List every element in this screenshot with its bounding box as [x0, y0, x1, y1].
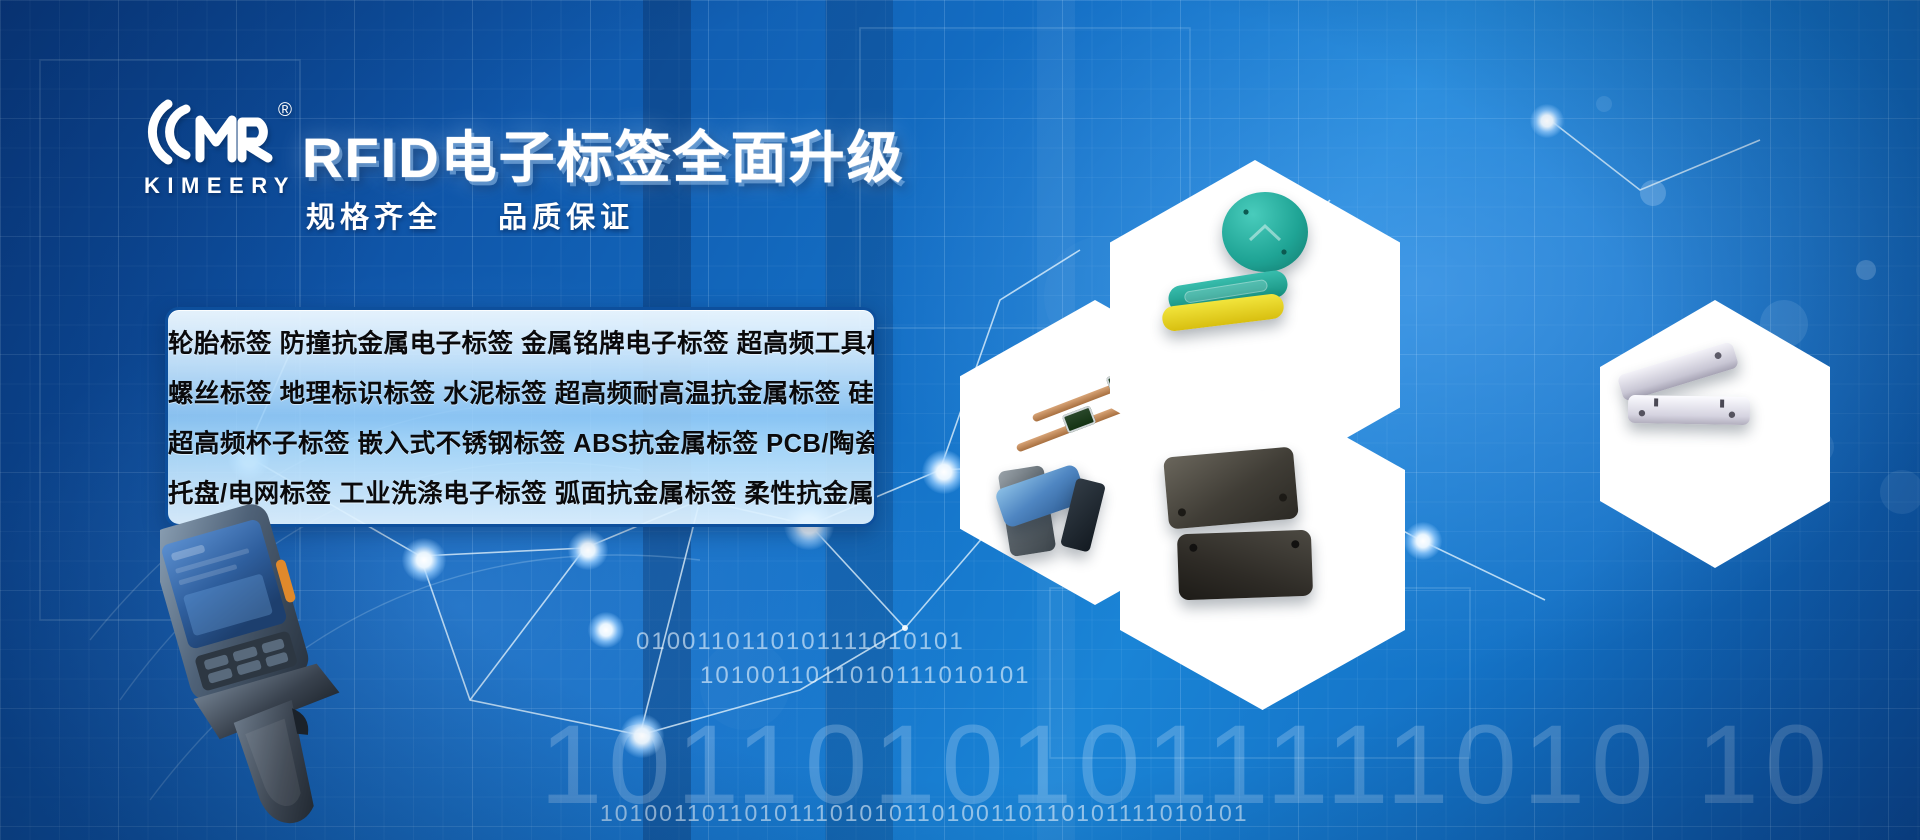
dark-rectangular-tag	[1177, 530, 1313, 601]
white-bar-tag	[1617, 341, 1740, 402]
page-title: RFID电子标签全面升级	[302, 113, 905, 194]
brand-name: KIMEERY	[138, 173, 298, 199]
teal-round-disc-tag	[1222, 192, 1308, 272]
dark-rectangular-tag	[1163, 446, 1299, 529]
handheld-rfid-reader[interactable]	[160, 495, 390, 825]
product-row: 轮胎标签 防撞抗金属电子标签 金属铭牌电子标签 超高频工具标签	[168, 319, 874, 369]
subtitle: 规格齐全 品质保证	[306, 194, 634, 236]
rfid-promo-banner: 0100110110101111010101 10100110110101110…	[0, 0, 1920, 840]
subtitle-right: 品质保证	[498, 202, 634, 234]
kmr-wave-logo-icon: ®	[138, 96, 298, 168]
product-list-panel: 轮胎标签 防撞抗金属电子标签 金属铭牌电子标签 超高频工具标签 螺丝标签 地理标…	[165, 307, 877, 527]
registered-trademark-icon: ®	[278, 100, 292, 122]
brand-logo[interactable]: ® KIMEERY	[138, 96, 298, 206]
product-row: 超高频杯子标签 嵌入式不锈钢标签 ABS抗金属标签 PCB/陶瓷电子标签	[168, 419, 874, 469]
white-bar-tag	[1628, 395, 1750, 425]
product-row: 螺丝标签 地理标识标签 水泥标签 超高频耐高温抗金属标签 硅胶腕带	[168, 369, 874, 419]
subtitle-left: 规格齐全	[306, 202, 442, 234]
product-list-rows: 轮胎标签 防撞抗金属电子标签 金属铭牌电子标签 超高频工具标签 螺丝标签 地理标…	[168, 310, 874, 519]
